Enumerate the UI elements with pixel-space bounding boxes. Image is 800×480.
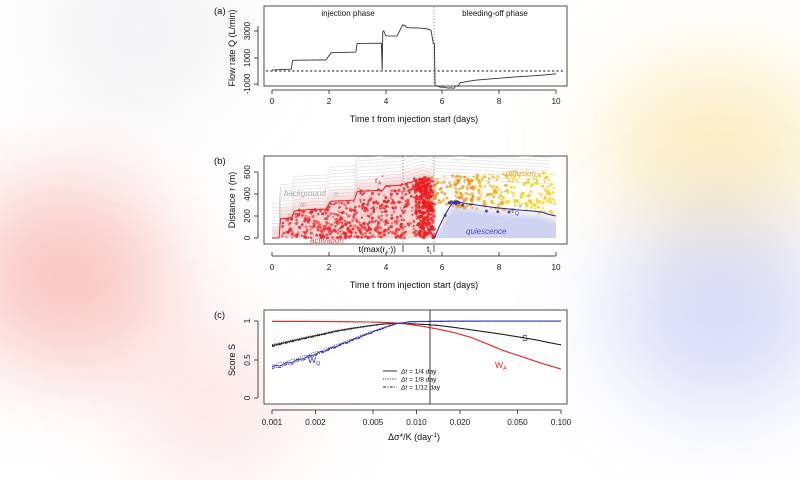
panel-a-xtick-label-4: 8 <box>497 97 502 106</box>
panel-b-diffusion-annotation: diffusion <box>506 169 536 178</box>
panel-c: (c) 0 0.5 1 Score S 0.0010.0020.0050.010… <box>214 310 572 442</box>
panel-a-ytick-label-0: -1000 <box>243 73 252 94</box>
panel-b-xtick-label-5: 10 <box>551 263 561 272</box>
panel-a-ytick-label-1: 1000 <box>243 48 252 67</box>
panel-b-xticks <box>272 245 556 256</box>
panel-c-xtick-label-4: 0.020 <box>450 418 471 427</box>
panel-c-xtick-label-2: 0.005 <box>363 418 384 427</box>
panel-c-xtick-labels: 0.0010.0020.0050.0100.0200.0500.100 <box>262 418 572 427</box>
panel-a-bleeding-phase-label: bleeding-off phase <box>462 9 528 18</box>
panel-c-xtick-label-3: 0.010 <box>406 418 427 427</box>
panel-c-S-label: S <box>522 333 528 343</box>
panel-b-xtick-label-4: 8 <box>497 263 502 272</box>
panel-b-yticks <box>254 172 258 238</box>
panel-b-xtick-label-1: 2 <box>327 263 332 272</box>
panel-a-xlabel: Time t from injection start (days) <box>350 114 478 124</box>
panel-a-xtick-label-0: 0 <box>270 97 275 106</box>
figure-container: (a) -1000 1000 3000 Flow rate Q (L/min) … <box>0 0 800 450</box>
panel-a: (a) -1000 1000 3000 Flow rate Q (L/min) … <box>214 6 567 124</box>
panel-a-frame <box>264 6 567 86</box>
panel-b-xlabel: Time t from injection start (days) <box>350 280 478 290</box>
panel-a-xticks <box>272 90 556 94</box>
panel-a-xtick-label-5: 10 <box>551 97 561 106</box>
panel-c-label: (c) <box>214 310 225 321</box>
panel-c-xlabel: Δσ*/K (day-1) <box>388 432 440 442</box>
panel-a-injection-phase-label: injection phase <box>321 9 375 18</box>
panel-c-ytick-label-2: 1 <box>243 318 252 323</box>
panel-b-xtick-label-3: 6 <box>440 263 445 272</box>
panel-b-t1-annotation: t1 <box>427 244 432 255</box>
panel-a-xtick-label-2: 4 <box>384 97 389 106</box>
panel-c-yticks <box>254 321 258 398</box>
panel-c-xtick-label-1: 0.002 <box>305 418 326 427</box>
panel-b-ylabel: Distance r (m) <box>227 172 237 229</box>
panel-a-xtick-label-3: 6 <box>440 97 445 106</box>
legend-label-1: Δt = 1/8 day <box>400 376 437 383</box>
legend-label-2: Δt = 1/12 day <box>400 384 441 391</box>
panel-a-xtick-label-1: 2 <box>327 97 332 106</box>
panel-b-ytick-label-0: 0 <box>243 235 252 240</box>
panel-c-ytick-label-1: 0.5 <box>243 354 252 366</box>
panel-b-tmax-annotation: t(max(rA*)) <box>359 244 397 255</box>
panel-c-xtick-label-5: 0.050 <box>507 418 528 427</box>
panel-b-quiescence-annotation: quiescence <box>466 227 507 236</box>
panel-b-ytick-label-2: 400 <box>243 187 252 201</box>
panel-b-activation-annotation: activation <box>310 236 344 245</box>
panel-a-label: (a) <box>214 6 226 17</box>
panel-b-xtick-label-0: 0 <box>270 263 275 272</box>
panel-b: (b) 0 200 400 600 Distance r (m) <box>214 145 567 291</box>
legend-label-0: Δt = 1/4 day <box>400 368 437 375</box>
panel-b-ytick-label-3: 600 <box>243 165 252 179</box>
panel-b-xtick-label-2: 4 <box>384 263 389 272</box>
panel-b-label: (b) <box>214 156 226 167</box>
figure-svg: (a) -1000 1000 3000 Flow rate Q (L/min) … <box>0 0 800 450</box>
panel-a-ylabel: Flow rate Q (L/min) <box>227 9 237 86</box>
panel-a-ytick-label-2: 3000 <box>243 21 252 40</box>
panel-b-ytick-label-1: 200 <box>243 209 252 223</box>
panel-c-xtick-label-6: 0.100 <box>551 418 572 427</box>
panel-c-ytick-label-0: 0 <box>243 395 252 400</box>
panel-c-xtick-label-0: 0.001 <box>262 418 283 427</box>
panel-c-ylabel: Score S <box>227 344 237 376</box>
panel-b-background-annotation: background <box>284 189 326 198</box>
panel-c-xticks <box>272 410 561 414</box>
